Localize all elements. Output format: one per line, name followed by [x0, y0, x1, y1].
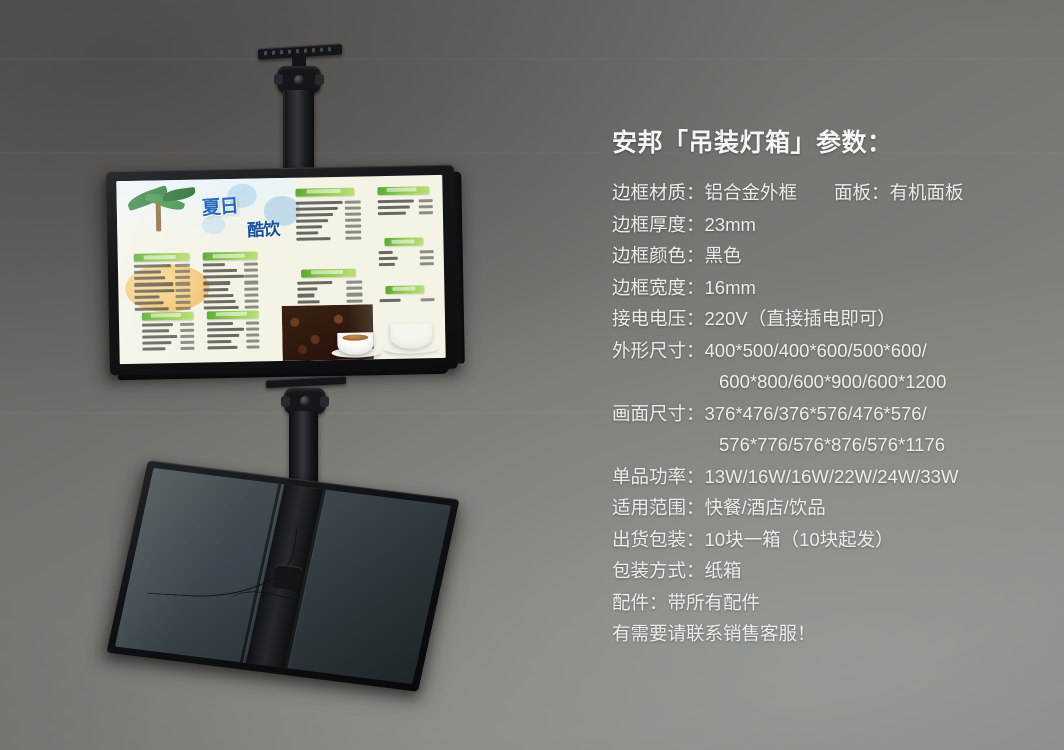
menu-item-row [378, 250, 433, 254]
spec-line: 接电电压：220V（直接插电即可） [612, 303, 1042, 335]
panel-rib [240, 484, 282, 663]
menu-item-row [134, 264, 189, 268]
product-photo: 夏日 酷饮 [0, 0, 1064, 750]
menu-item-list [207, 321, 260, 352]
menu-item-row [134, 270, 189, 274]
menu-board-screen: 夏日 酷饮 [116, 175, 445, 364]
menu-item-row [134, 276, 189, 280]
menu-item-list [377, 199, 433, 218]
menu-item-row [203, 293, 258, 297]
panel-rib [285, 489, 327, 668]
menu-item-row [142, 335, 194, 339]
spec-line: 边框材质：铝合金外框 面板：有机面板 [612, 177, 1042, 209]
menu-item-row [296, 225, 361, 229]
menu-item-row [203, 281, 258, 285]
menu-item-row [135, 288, 190, 292]
menu-item-row [207, 321, 259, 325]
menu-item-row [298, 293, 363, 297]
menu-title-secondary: 酷饮 [247, 214, 280, 241]
menu-item-row [298, 287, 363, 291]
menu-section-header [301, 268, 357, 277]
menu-section-header [142, 311, 194, 320]
spec-line: 配件：带所有配件 [612, 587, 1042, 619]
menu-item-row [203, 299, 258, 303]
cable-clamp [271, 564, 303, 591]
spec-line: 有需要请联系销售客服！ [612, 618, 1042, 650]
power-cable [147, 521, 297, 602]
menu-item-row [135, 294, 190, 298]
coffee-photo [282, 303, 446, 361]
menu-item-row [135, 307, 190, 311]
photo-fade [282, 303, 446, 361]
ceiling-plate [266, 376, 346, 388]
menu-item-row [142, 347, 194, 351]
menu-item-row [296, 200, 361, 204]
menu-item-list [378, 250, 434, 269]
menu-section-header [134, 253, 190, 262]
rear-mount-bracket [246, 484, 323, 667]
spec-line-list: 边框材质：铝合金外框 面板：有机面板 边框厚度：23mm 边框颜色：黑色 边框宽… [612, 177, 1042, 650]
palm-trunk-graphic [156, 202, 162, 231]
spec-line: 适用范围：快餐/酒店/饮品 [612, 492, 1042, 524]
page-title: 安邦「吊装灯箱」参数： [612, 128, 1042, 158]
menu-section-header [202, 252, 258, 261]
menu-item-list [142, 322, 195, 353]
menu-item-row [379, 262, 434, 266]
menu-section-header [386, 285, 425, 294]
menu-item-row [379, 256, 434, 260]
menu-item-row [296, 206, 361, 210]
spec-line: 边框颜色：黑色 [612, 240, 1042, 272]
spec-line: 外形尺寸：400*500/400*600/500*600/ [612, 335, 1042, 367]
menu-item-row [298, 299, 363, 303]
menu-item-row [135, 282, 190, 286]
spec-line: 画面尺寸：376*476/376*576/476*576/ [612, 398, 1042, 430]
specification-panel: 安邦「吊装灯箱」参数： 边框材质：铝合金外框 面板：有机面板 边框厚度：23mm… [612, 128, 1042, 650]
menu-item-row [142, 322, 194, 326]
menu-item-row [142, 341, 194, 345]
menu-item-row [203, 287, 258, 291]
spec-line: 单品功率：13W/16W/16W/22W/24W/33W [612, 461, 1042, 493]
hanging-light-box-display: 夏日 酷饮 [106, 165, 458, 376]
menu-item-row [203, 269, 258, 273]
upper-ceiling-mount [252, 46, 348, 186]
menu-item-row [296, 219, 361, 223]
menu-item-row [207, 333, 259, 337]
menu-item-row [207, 339, 259, 343]
menu-section-header [296, 188, 355, 197]
menu-item-row [207, 327, 259, 331]
power-cable [225, 585, 298, 629]
light-box-rear-view [106, 460, 459, 692]
spec-line: 包装方式：纸箱 [612, 555, 1042, 587]
menu-item-row [203, 263, 258, 267]
menu-section-header [207, 310, 259, 319]
spec-line: 出货包装：10块一箱（10块起发） [612, 524, 1042, 556]
menu-item-row [203, 305, 258, 309]
menu-item-row [298, 281, 363, 285]
spec-line: 600*800/600*900/600*1200 [612, 366, 1042, 398]
menu-title: 夏日 [201, 191, 239, 221]
menu-item-list [296, 200, 362, 244]
spec-line: 边框厚度：23mm [612, 209, 1042, 241]
menu-item-row [142, 329, 194, 333]
menu-item-row [297, 237, 362, 241]
menu-section-header [385, 237, 424, 246]
menu-item-row [377, 199, 432, 203]
menu-item-row [379, 298, 434, 302]
menu-item-row [378, 205, 433, 209]
menu-item-row [207, 346, 259, 350]
swivel-joint [277, 66, 321, 93]
spec-line: 边框宽度：16mm [612, 272, 1042, 304]
menu-item-row [135, 301, 190, 305]
menu-item-list [134, 264, 190, 314]
menu-item-list [203, 263, 259, 313]
menu-item-row [296, 212, 361, 216]
menu-section-header [377, 186, 429, 195]
background-band [0, 58, 1064, 60]
spec-line: 576*776/576*876/576*1176 [612, 429, 1042, 461]
menu-item-row [297, 231, 362, 235]
menu-item-row [378, 211, 433, 215]
menu-item-row [203, 275, 258, 279]
rear-panel-face [115, 468, 451, 684]
